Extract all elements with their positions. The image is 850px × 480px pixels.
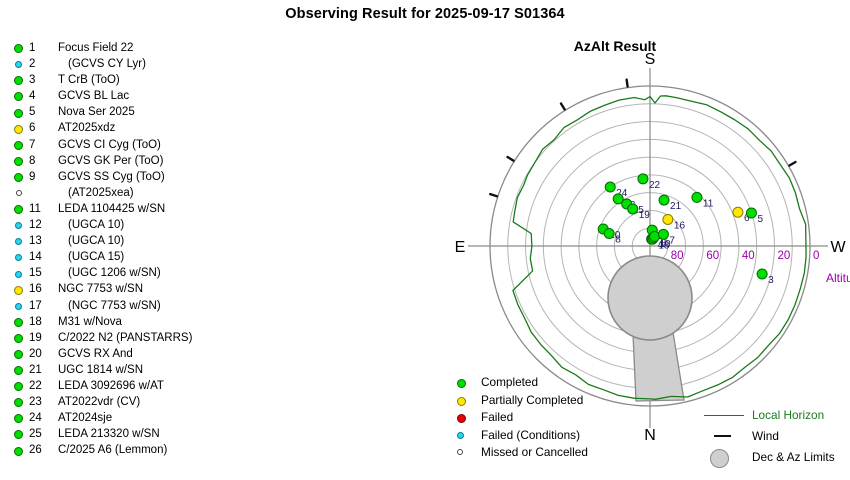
- status-dot-yellow-icon: [14, 125, 23, 134]
- status-dot-green-icon: [14, 92, 23, 101]
- target-number: 6: [29, 120, 46, 136]
- target-name: UGC 1814 w/SN: [58, 362, 143, 378]
- target-name: AT2024sje: [58, 410, 112, 426]
- cardinal-bottom: N: [644, 427, 656, 444]
- target-name: T CrB (ToO): [58, 72, 120, 88]
- target-number: 17: [29, 298, 46, 314]
- target-number: 4: [29, 88, 46, 104]
- status-legend-label: Failed (Conditions): [481, 427, 580, 445]
- status-dot-green-icon: [14, 382, 23, 391]
- dec-az-limits-circle-icon: [710, 449, 729, 468]
- target-list-item[interactable]: 25LEDA 213320 w/SN: [14, 426, 314, 442]
- status-dot-green-icon: [457, 379, 466, 388]
- target-number: 13: [29, 233, 46, 249]
- target-name: Focus Field 22: [58, 40, 133, 56]
- target-number: 26: [29, 442, 46, 458]
- target-name: (AT2025xea): [68, 185, 134, 201]
- target-name: (UGC 1206 w/SN): [68, 265, 161, 281]
- status-dot-green-icon: [14, 205, 23, 214]
- target-number: 16: [29, 281, 46, 297]
- wind-tick-icon: [789, 162, 795, 166]
- observing-result-page: Observing Result for 2025-09-17 S01364 1…: [0, 0, 850, 480]
- target-list-item[interactable]: 5Nova Ser 2025: [14, 104, 314, 120]
- status-dot-green-icon: [14, 109, 23, 118]
- status-dot-green-icon: [14, 398, 23, 407]
- status-dot-cyan-icon: [457, 432, 464, 439]
- target-name: AT2022vdr (CV): [58, 394, 140, 410]
- target-name: LEDA 3092696 w/AT: [58, 378, 164, 394]
- wind-tick-icon: [490, 194, 497, 196]
- target-name: Nova Ser 2025: [58, 104, 135, 120]
- status-dot-open-icon: [16, 190, 22, 196]
- data-point[interactable]: 11: [692, 192, 714, 209]
- status-dot-green-icon: [14, 44, 23, 53]
- wind-tick-icon: [627, 80, 628, 87]
- status-dot-yellow-icon: [457, 397, 466, 406]
- target-list-item[interactable]: 24AT2024sje: [14, 410, 314, 426]
- target-number: 3: [29, 72, 46, 88]
- status-dot-green-icon: [14, 350, 23, 359]
- target-number: 5: [29, 104, 46, 120]
- target-number: 11: [29, 201, 46, 217]
- local-horizon-line-icon: [704, 415, 744, 416]
- target-list-item[interactable]: 3T CrB (ToO): [14, 72, 314, 88]
- target-list-item[interactable]: 17(NGC 7753 w/SN): [14, 298, 314, 314]
- cardinal-top: S: [645, 51, 656, 68]
- target-name: LEDA 213320 w/SN: [58, 426, 160, 442]
- target-name: GCVS CI Cyg (ToO): [58, 137, 161, 153]
- target-name: AT2025xdz: [58, 120, 115, 136]
- target-list-item[interactable]: 21UGC 1814 w/SN: [14, 362, 314, 378]
- target-number: 14: [29, 249, 46, 265]
- target-number: 18: [29, 314, 46, 330]
- target-number: 21: [29, 362, 46, 378]
- target-name: GCVS GK Per (ToO): [58, 153, 163, 169]
- target-name: LEDA 1104425 w/SN: [58, 201, 165, 217]
- status-dot-green-icon: [14, 334, 23, 343]
- data-point-label: 3: [768, 275, 774, 286]
- status-dot-green-icon: [14, 430, 23, 439]
- target-list-item[interactable]: 12(UGCA 10): [14, 217, 314, 233]
- target-name: GCVS RX And: [58, 346, 133, 362]
- target-name: (UGCA 10): [68, 233, 124, 249]
- target-number: 2: [29, 56, 46, 72]
- data-point[interactable]: 22: [638, 174, 661, 191]
- target-number: 20: [29, 346, 46, 362]
- target-name: (UGCA 10): [68, 217, 124, 233]
- data-point-label: 19: [639, 210, 651, 221]
- target-list-item[interactable]: 1Focus Field 22: [14, 40, 314, 56]
- data-point-label: 21: [670, 201, 682, 212]
- symbol-legend-label: Wind: [752, 426, 779, 447]
- target-list-item[interactable]: 9GCVS SS Cyg (ToO): [14, 169, 314, 185]
- target-list-item[interactable]: 6AT2025xdz: [14, 120, 314, 136]
- symbol-legend-label: Dec & Az Limits: [752, 447, 835, 468]
- status-dot-green-icon: [14, 414, 23, 423]
- symbol-legend-label: Local Horizon: [752, 405, 824, 426]
- target-name: C/2022 N2 (PANSTARRS): [58, 330, 192, 346]
- wind-tick-icon: [508, 157, 514, 161]
- target-list-item[interactable]: 26C/2025 A6 (Lemmon): [14, 442, 314, 458]
- target-list-item[interactable]: 19C/2022 N2 (PANSTARRS): [14, 330, 314, 346]
- status-dot-green-icon: [14, 141, 23, 150]
- target-number: 25: [29, 426, 46, 442]
- target-list-item[interactable]: 2(GCVS CY Lyr): [14, 56, 314, 72]
- data-point-label: 16: [674, 220, 686, 231]
- data-point-label: 11: [703, 198, 714, 209]
- altitude-tick-label: 0: [813, 250, 819, 262]
- target-list-item[interactable]: 11LEDA 1104425 w/SN: [14, 201, 314, 217]
- target-list-item[interactable]: 18M31 w/Nova: [14, 314, 314, 330]
- target-list-item[interactable]: 7GCVS CI Cyg (ToO): [14, 137, 314, 153]
- status-dot-green-icon: [14, 76, 23, 85]
- target-name: GCVS BL Lac: [58, 88, 129, 104]
- target-list: 1Focus Field 222(GCVS CY Lyr)3T CrB (ToO…: [14, 40, 314, 458]
- target-list-item[interactable]: 20GCVS RX And: [14, 346, 314, 362]
- target-number: 7: [29, 137, 46, 153]
- status-dot-green-icon: [14, 366, 23, 375]
- target-number: 15: [29, 265, 46, 281]
- cardinal-right: W: [830, 239, 846, 256]
- altitude-tick-label: 60: [706, 250, 719, 262]
- cardinal-left: E: [455, 239, 465, 256]
- data-point-label: 22: [649, 180, 661, 191]
- target-list-item[interactable]: 4GCVS BL Lac: [14, 88, 314, 104]
- wind-tick-icon: [714, 435, 731, 437]
- data-point-label: 8: [615, 235, 621, 246]
- target-name: C/2025 A6 (Lemmon): [58, 442, 167, 458]
- status-dot-cyan-icon: [15, 303, 22, 310]
- status-dot-green-icon: [14, 447, 23, 456]
- target-number: 24: [29, 410, 46, 426]
- target-list-item[interactable]: 14(UGCA 15): [14, 249, 314, 265]
- status-legend-label: Missed or Cancelled: [481, 444, 588, 462]
- status-dot-cyan-icon: [15, 271, 22, 278]
- target-number: 19: [29, 330, 46, 346]
- wind-tick-icon: [561, 104, 565, 110]
- target-name: M31 w/Nova: [58, 314, 122, 330]
- data-point[interactable]: 21: [659, 195, 682, 212]
- target-name: NGC 7753 w/SN: [58, 281, 143, 297]
- data-point-label: 5: [757, 214, 763, 225]
- status-dot-cyan-icon: [15, 61, 22, 68]
- data-point-label: 7: [669, 235, 675, 246]
- target-number: 12: [29, 217, 46, 233]
- status-legend-label: Failed: [481, 409, 513, 427]
- target-list-item[interactable]: 22LEDA 3092696 w/AT: [14, 378, 314, 394]
- status-dot-green-icon: [14, 173, 23, 182]
- target-number: 9: [29, 169, 46, 185]
- status-legend-label: Partially Completed: [481, 392, 583, 410]
- target-list-item[interactable]: 23AT2022vdr (CV): [14, 394, 314, 410]
- target-name: (UGCA 15): [68, 249, 124, 265]
- status-legend-label: Completed: [481, 374, 538, 392]
- status-dot-cyan-icon: [15, 238, 22, 245]
- target-list-item[interactable]: 15(UGC 1206 w/SN): [14, 265, 314, 281]
- altitude-tick-label: 20: [777, 250, 790, 262]
- altitude-tick-label: 80: [671, 250, 684, 262]
- target-list-item[interactable]: (AT2025xea): [14, 185, 314, 201]
- page-title: Observing Result for 2025-09-17 S01364: [0, 6, 850, 22]
- target-number: 1: [29, 40, 46, 56]
- target-list-item[interactable]: 16NGC 7753 w/SN: [14, 281, 314, 297]
- status-dot-cyan-icon: [15, 222, 22, 229]
- status-dot-green-icon: [14, 318, 23, 327]
- target-number: 8: [29, 153, 46, 169]
- target-number: 23: [29, 394, 46, 410]
- status-dot-green-icon: [14, 157, 23, 166]
- target-list-item[interactable]: 8GCVS GK Per (ToO): [14, 153, 314, 169]
- altitude-tick-label: 40: [742, 250, 755, 262]
- target-name: GCVS SS Cyg (ToO): [58, 169, 165, 185]
- target-name: (GCVS CY Lyr): [68, 56, 146, 72]
- target-number: 22: [29, 378, 46, 394]
- status-dot-yellow-icon: [14, 286, 23, 295]
- target-list-item[interactable]: 13(UGCA 10): [14, 233, 314, 249]
- target-name: (NGC 7753 w/SN): [68, 298, 161, 314]
- altitude-axis-label: Altitude: [826, 271, 850, 285]
- status-dot-cyan-icon: [15, 254, 22, 261]
- data-point[interactable]: 16: [663, 214, 686, 231]
